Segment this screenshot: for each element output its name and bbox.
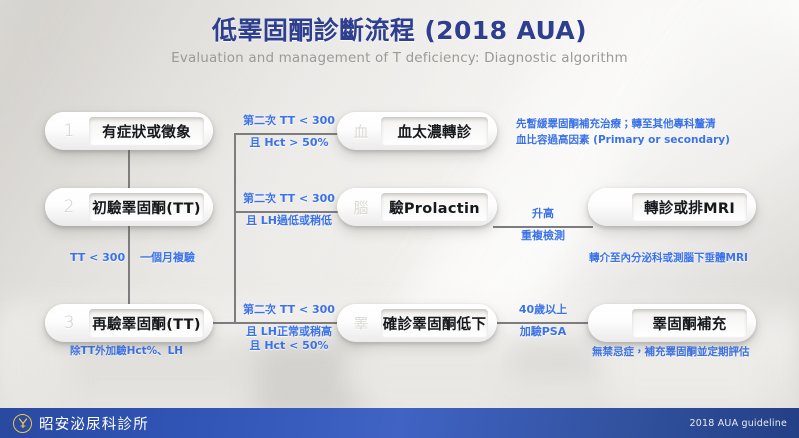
outcome-node-2[interactable]: 腦 驗Prolactin xyxy=(337,188,497,226)
label-tt-threshold: TT < 300 xyxy=(70,250,125,266)
outcome-label-1: 血太濃轉診 xyxy=(381,117,488,145)
step-number-1: 1 xyxy=(49,121,89,141)
branch-1-note-line1: 先暫緩睪固酮補充治療；轉至其他專科釐清 xyxy=(516,117,716,133)
testis-glyph-icon: 睪 xyxy=(341,313,381,334)
outcome-label-2: 驗Prolactin xyxy=(381,193,488,221)
blood-glyph-icon: 血 xyxy=(341,121,381,142)
background-blur-shape xyxy=(345,348,505,394)
branch-2-link-line2: 重複檢測 xyxy=(510,228,576,244)
page-subtitle: Evaluation and management of T deficienc… xyxy=(0,50,799,66)
step-number-2: 2 xyxy=(49,197,89,217)
branch-2-note-line1: 轉介至內分泌科或測腦下垂體MRI xyxy=(589,251,748,267)
page-title-zh: 低睪固酮診斷流程 xyxy=(212,16,415,45)
label-recheck-interval: 一個月複驗 xyxy=(140,250,195,266)
branch-3-condition-line1: 第二次 TT < 300 xyxy=(237,302,341,318)
step-node-2[interactable]: 2 初驗睪固酮(TT) xyxy=(45,188,213,226)
connector-step3-to-rail xyxy=(213,322,235,324)
footer-reference: 2018 AUA guideline xyxy=(690,418,787,429)
branch-3-link-line2: 加驗PSA xyxy=(505,324,581,340)
page-title: 低睪固酮診斷流程 (2018 AUA) xyxy=(0,16,799,46)
slide-canvas: 低睪固酮診斷流程 (2018 AUA) Evaluation and manag… xyxy=(0,0,799,438)
branch-2-condition-line1: 第二次 TT < 300 xyxy=(237,191,341,207)
branch-1-condition-line1: 第二次 TT < 300 xyxy=(237,113,341,129)
step-node-3[interactable]: 3 再驗睪固酮(TT) xyxy=(45,304,213,342)
connector-step1-step2 xyxy=(128,150,130,188)
note-step3: 除TT外加驗Hct%、LH xyxy=(70,344,183,360)
brand-name: 昭安泌尿科診所 xyxy=(39,413,149,434)
brain-glyph-icon: 腦 xyxy=(341,197,381,218)
outcome-label-3: 確診睪固酮低下 xyxy=(381,309,488,337)
branch-rail-vertical xyxy=(234,134,236,324)
slide-header: 低睪固酮診斷流程 (2018 AUA) Evaluation and manag… xyxy=(0,16,799,66)
action-label-2: 轉診或排MRI xyxy=(632,193,747,221)
step-node-1[interactable]: 1 有症狀或徵象 xyxy=(45,112,213,150)
branch-2-link-line1: 升高 xyxy=(510,206,576,222)
branch-1-note-line2: 血比容過高因素 (Primary or secondary) xyxy=(516,133,730,149)
step-label-2: 初驗睪固酮(TT) xyxy=(89,193,204,221)
footer-bar: 昭安泌尿科診所 2018 AUA guideline xyxy=(0,408,799,438)
outcome-node-3[interactable]: 睪 確診睪固酮低下 xyxy=(337,304,497,342)
branch-2-condition-line2: 且 LH過低或稍低 xyxy=(237,213,341,229)
clinic-emblem-icon xyxy=(13,414,32,433)
brand: 昭安泌尿科診所 xyxy=(13,413,149,434)
connector-step2-step3 xyxy=(128,226,130,304)
branch-3-condition-line3: 且 Hct < 50% xyxy=(237,338,341,354)
page-title-en: (2018 AUA) xyxy=(424,16,587,45)
branch-1-condition-line2: 且 Hct > 50% xyxy=(237,135,341,151)
step-number-3: 3 xyxy=(49,313,89,333)
background-blur-shape xyxy=(508,340,598,380)
action-node-3[interactable]: 睪固酮補充 xyxy=(588,304,756,342)
step-label-1: 有症狀或徵象 xyxy=(89,117,204,145)
branch-3-link-line1: 40歲以上 xyxy=(505,302,581,318)
action-node-2[interactable]: 轉診或排MRI xyxy=(588,188,756,226)
step-label-3: 再驗睪固酮(TT) xyxy=(89,309,204,337)
branch-3-note-line1: 無禁忌症，補充睪固酮並定期評估 xyxy=(592,345,750,361)
action-label-3: 睪固酮補充 xyxy=(632,309,747,337)
outcome-node-1[interactable]: 血 血太濃轉診 xyxy=(337,112,497,150)
